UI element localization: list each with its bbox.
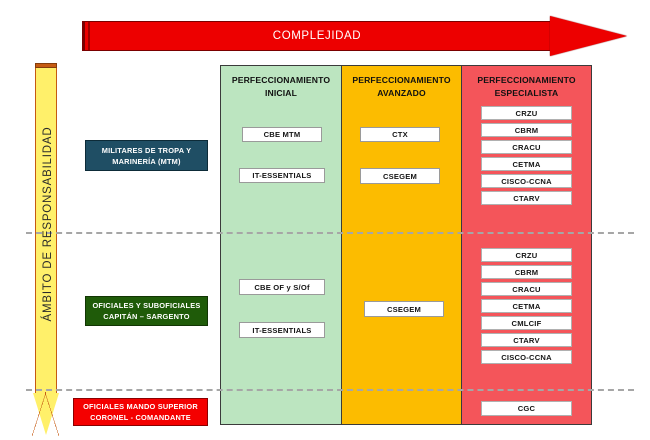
- column-especialista-title-line1: PERFECCIONAMIENTO: [462, 74, 591, 87]
- course-pill[interactable]: CRZU: [481, 106, 572, 120]
- complexity-arrow: COMPLEJIDAD: [82, 16, 627, 56]
- course-pill[interactable]: CTX: [360, 127, 440, 142]
- column-inicial-title-line1: PERFECCIONAMIENTO: [221, 74, 341, 87]
- course-pill[interactable]: CBRM: [481, 265, 572, 279]
- diagram-canvas: COMPLEJIDAD ÁMBITO DE RESPONSABILIDAD MI…: [0, 0, 650, 440]
- course-pill[interactable]: IT-ESSENTIALS: [239, 322, 325, 338]
- role-ofsof-line1: OFICIALES Y SUBOFICIALES: [92, 300, 200, 311]
- column-perfeccionamiento-inicial: PERFECCIONAMIENTO INICIAL CBE MTM IT-ESS…: [221, 66, 342, 424]
- responsibility-arrow-head-edge-right: [45, 392, 59, 436]
- role-mando-line2: CORONEL - COMANDANTE: [90, 412, 191, 423]
- column-especialista-title-line2: ESPECIALISTA: [462, 87, 591, 100]
- column-avanzado-title: PERFECCIONAMIENTO AVANZADO: [342, 74, 461, 100]
- role-ofsof-line2: CAPITÁN – SARGENTO: [103, 311, 189, 322]
- band-separator-upper: [26, 232, 634, 234]
- course-pill[interactable]: CRACU: [481, 282, 572, 296]
- course-pill[interactable]: CBE OF y S/Of: [239, 279, 325, 295]
- column-avanzado-title-line1: PERFECCIONAMIENTO: [342, 74, 461, 87]
- responsibility-arrow-head-edge-left: [32, 392, 46, 436]
- role-mtm-line2: MARINERÍA (MTM): [112, 156, 180, 167]
- course-pill[interactable]: CISCO-CCNA: [481, 174, 572, 188]
- course-pill[interactable]: IT-ESSENTIALS: [239, 168, 325, 183]
- course-pill[interactable]: CETMA: [481, 299, 572, 313]
- band-separator-lower: [26, 389, 634, 391]
- column-inicial-title: PERFECCIONAMIENTO INICIAL: [221, 74, 341, 100]
- role-mtm-line1: MILITARES DE TROPA Y: [102, 145, 192, 156]
- column-perfeccionamiento-especialista: PERFECCIONAMIENTO ESPECIALISTA CRZU CBRM…: [462, 66, 591, 424]
- column-avanzado-title-line2: AVANZADO: [342, 87, 461, 100]
- complexity-arrow-label: COMPLEJIDAD: [82, 21, 552, 51]
- course-pill[interactable]: CISCO-CCNA: [481, 350, 572, 364]
- complexity-arrow-head: [550, 16, 627, 56]
- responsibility-arrow: ÁMBITO DE RESPONSABILIDAD: [33, 63, 59, 435]
- course-pill[interactable]: CRACU: [481, 140, 572, 154]
- role-box-mando-superior: OFICIALES MANDO SUPERIOR CORONEL - COMAN…: [73, 398, 208, 426]
- role-box-oficiales-suboficiales: OFICIALES Y SUBOFICIALES CAPITÁN – SARGE…: [85, 296, 208, 326]
- role-box-mtm: MILITARES DE TROPA Y MARINERÍA (MTM): [85, 140, 208, 171]
- responsibility-arrow-label: ÁMBITO DE RESPONSABILIDAD: [37, 59, 59, 389]
- column-perfeccionamiento-avanzado: PERFECCIONAMIENTO AVANZADO CTX CSEGEM CS…: [342, 66, 462, 424]
- columns-frame: PERFECCIONAMIENTO INICIAL CBE MTM IT-ESS…: [220, 65, 592, 425]
- course-pill[interactable]: CRZU: [481, 248, 572, 262]
- course-pill[interactable]: CTARV: [481, 333, 572, 347]
- role-mando-line1: OFICIALES MANDO SUPERIOR: [83, 401, 198, 412]
- column-inicial-title-line2: INICIAL: [221, 87, 341, 100]
- course-pill[interactable]: CSEGEM: [360, 168, 440, 184]
- course-pill[interactable]: CBE MTM: [242, 127, 322, 142]
- course-pill[interactable]: CBRM: [481, 123, 572, 137]
- course-pill[interactable]: CSEGEM: [364, 301, 444, 317]
- course-pill[interactable]: CMLCIF: [481, 316, 572, 330]
- course-pill[interactable]: CTARV: [481, 191, 572, 205]
- column-especialista-title: PERFECCIONAMIENTO ESPECIALISTA: [462, 74, 591, 100]
- course-pill[interactable]: CETMA: [481, 157, 572, 171]
- course-pill[interactable]: CGC: [481, 401, 572, 416]
